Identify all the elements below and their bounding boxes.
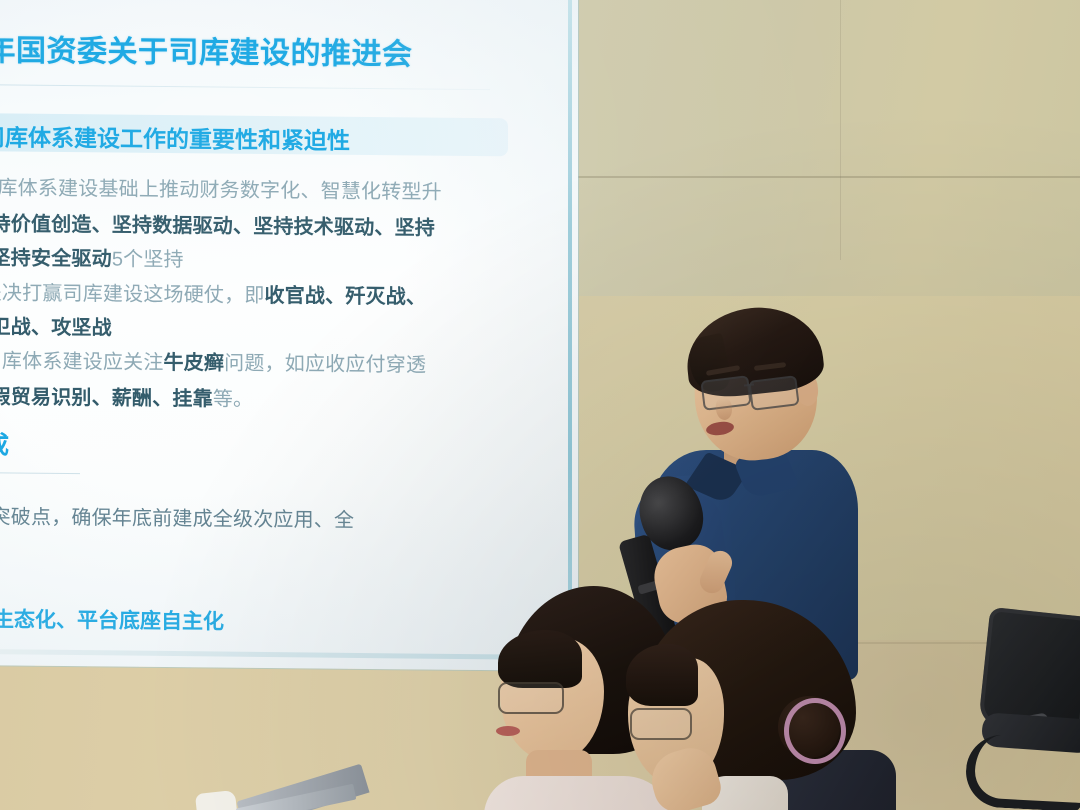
body-line: 提出坚持价值创造、坚持数据驱动、坚持技术驱动、坚持 — [0, 207, 570, 242]
photo-scene: 能 CHINA HUANENG 023年国资委关于司库建设的推进会 提升司库体系… — [0, 0, 1080, 810]
office-chair — [960, 612, 1080, 810]
slide-content: 能 CHINA HUANENG 023年国资委关于司库建设的推进会 提升司库体系… — [0, 0, 578, 671]
attendee-right-eyeglasses — [630, 708, 692, 740]
china-huaneng-logo: 能 CHINA HUANENG — [356, 0, 518, 1]
body-line: 1日，司库体系建设应关注牛皮癣问题，如应收应付穿透 — [0, 344, 570, 379]
body-line: 战、保卫战、攻坚战 — [0, 310, 570, 345]
screen-right-edge — [568, 0, 572, 662]
sub-heading: 期完成 — [0, 425, 9, 462]
attendee-right-hair-tie — [784, 698, 846, 764]
sub-heading-divider — [0, 472, 80, 474]
slide-title: 023年国资委关于司库建设的推进会 — [0, 25, 534, 75]
wall-seam-vertical-1 — [840, 0, 841, 260]
body-line: 1日，坚决打赢司库建设这场硬仗，即收官战、歼灭战、 — [0, 276, 570, 311]
accent-line: 统建设生态化、平台底座自主化 — [0, 603, 224, 636]
white-object — [195, 790, 237, 810]
body-line: 金、虚假贸易识别、薪酬、挂靠等。 — [0, 380, 570, 415]
title-divider — [0, 84, 490, 90]
attendee-right-fringe — [626, 644, 698, 706]
wall-seam-horizontal-1 — [560, 176, 1080, 178]
attendee-left-eyeglasses — [498, 682, 564, 714]
lower-line: 范围。 — [0, 560, 570, 595]
seated-attendee-right — [628, 600, 888, 810]
logo-en-text: CHINA HUANENG — [409, 0, 518, 1]
body-line: 驱动、坚持安全驱动5个坚持 — [0, 241, 570, 276]
attendee-left-lips — [496, 726, 520, 736]
eyeglasses-lens-right — [748, 375, 799, 411]
body-line: -日，司库体系建设基础上推动财务数字化、智慧化转型升 — [0, 171, 570, 206]
section-heading: 提升司库体系建设工作的重要性和紧迫性 — [0, 118, 536, 158]
lower-line: 转型的突破点，确保年底前建成全级次应用、全 — [0, 500, 570, 535]
chair-armrest — [964, 733, 1080, 810]
attendee-left-fringe — [498, 630, 582, 688]
wall-upper — [560, 0, 1080, 300]
